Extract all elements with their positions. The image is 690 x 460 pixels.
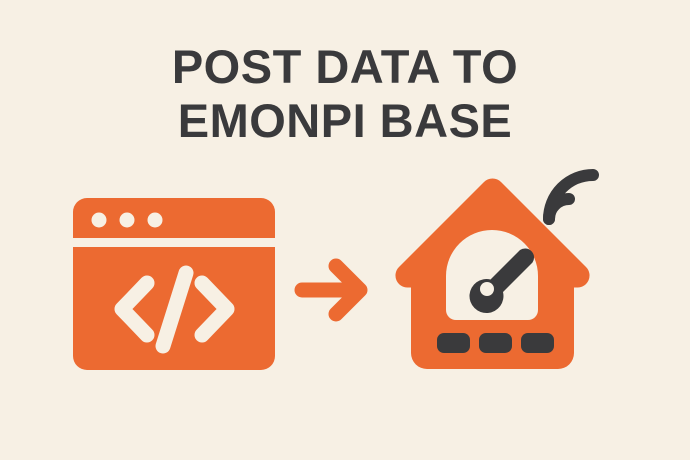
window-dot-2 <box>120 213 135 228</box>
house-button-2 <box>479 333 512 353</box>
gauge-needle-hub <box>480 282 494 296</box>
emonpi-house-icon <box>395 175 593 369</box>
illustration-svg <box>0 0 690 460</box>
wifi-arc-inner <box>549 199 569 219</box>
window-dot-3 <box>148 213 163 228</box>
poster-canvas: POST DATA TO EMONPI BASE <box>0 0 690 460</box>
window-dot-1 <box>92 213 107 228</box>
code-window-icon <box>73 198 275 370</box>
house-button-1 <box>437 333 470 353</box>
house-button-3 <box>521 333 554 353</box>
wifi-signal-icon <box>549 175 593 219</box>
illustration-stage <box>0 0 690 460</box>
right-arrow-icon <box>302 266 360 314</box>
